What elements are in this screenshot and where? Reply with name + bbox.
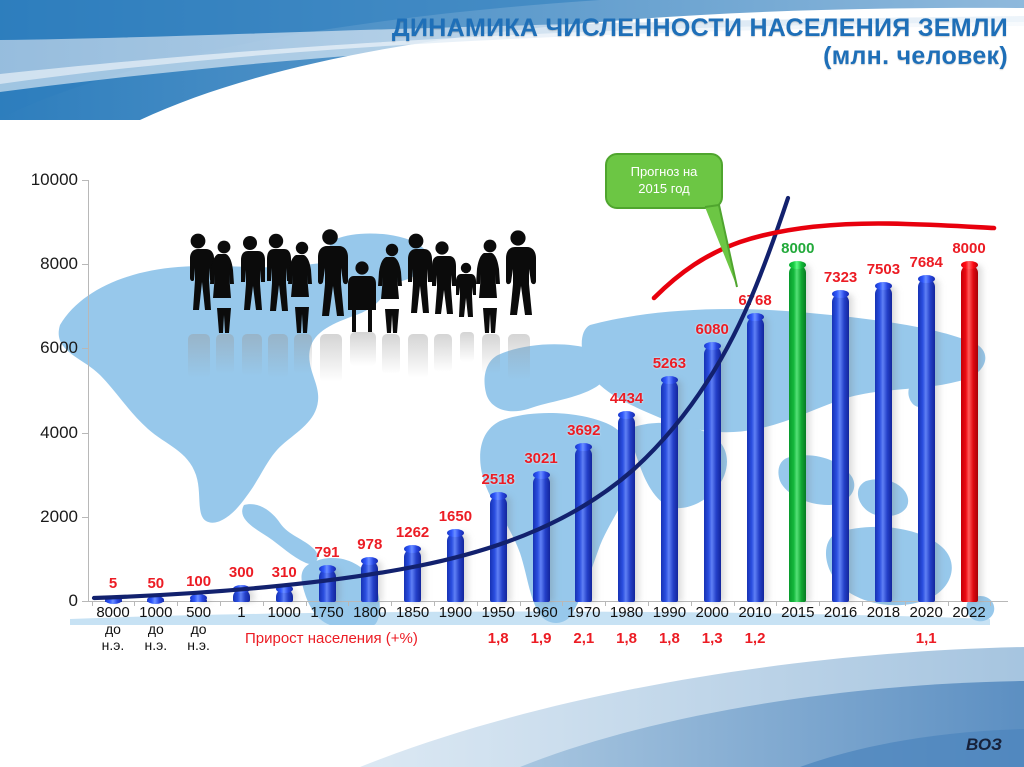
x-axis-label-line: 8000 <box>96 604 129 621</box>
x-axis-label: 1990 <box>653 604 686 621</box>
x-axis-label-line: 2000 <box>696 604 729 621</box>
callout-pointer <box>685 201 815 291</box>
x-axis-label-line: 1900 <box>439 604 472 621</box>
x-axis-label: 2022 <box>952 604 985 621</box>
exponential-trend-curve <box>94 198 788 598</box>
x-axis-label-line: 2015 <box>781 604 814 621</box>
y-tick-label: 6000 <box>40 338 78 358</box>
y-tick-label: 10000 <box>31 170 78 190</box>
x-axis-label: 1800 <box>353 604 386 621</box>
x-axis-label: 1 <box>237 604 245 621</box>
x-axis-label: 2016 <box>824 604 857 621</box>
forecast-callout: Прогноз на 2015 год <box>605 153 723 209</box>
x-axis-label: 2000 <box>696 604 729 621</box>
x-axis-label: 2010 <box>738 604 771 621</box>
y-tick-label: 2000 <box>40 507 78 527</box>
trend-curves <box>88 180 1008 602</box>
x-axis-label: 2020 <box>910 604 943 621</box>
title-line-2: (млн. человек) <box>392 42 1008 70</box>
population-chart: 0200040006000800010000 55010030031079197… <box>0 150 1024 620</box>
x-axis-label: 1950 <box>482 604 515 621</box>
x-axis-label-line: 2010 <box>738 604 771 621</box>
x-axis-label-line: до <box>186 621 211 637</box>
x-axis-label: 2018 <box>867 604 900 621</box>
x-axis-label: 2015 <box>781 604 814 621</box>
x-axis-label-line: 1 <box>237 604 245 621</box>
x-axis-label-line: 1970 <box>567 604 600 621</box>
callout-line-1: Прогноз на <box>631 164 698 181</box>
x-axis-label-line: 1750 <box>310 604 343 621</box>
callout-line-2: 2015 год <box>638 181 690 198</box>
plot-area: 0200040006000800010000 55010030031079197… <box>88 180 1008 602</box>
x-axis-label: 1000 <box>268 604 301 621</box>
x-axis-label-line: 1000 <box>139 604 172 621</box>
x-axis-label: 1750 <box>310 604 343 621</box>
x-axis-label-line: 2018 <box>867 604 900 621</box>
x-axis-label: 1980 <box>610 604 643 621</box>
x-axis-label-line: 1950 <box>482 604 515 621</box>
x-axis-label-line: 1000 <box>268 604 301 621</box>
x-axis-label-line: 1980 <box>610 604 643 621</box>
y-tick-label: 4000 <box>40 423 78 443</box>
slide-canvas: ДИНАМИКА ЧИСЛЕННОСТИ НАСЕЛЕНИЯ ЗЕМЛИ (мл… <box>0 0 1024 767</box>
x-axis-label-line: до <box>139 621 172 637</box>
y-tick-label: 8000 <box>40 254 78 274</box>
x-axis-label-line: 2016 <box>824 604 857 621</box>
x-axis-label-line: 2020 <box>910 604 943 621</box>
bottom-decoration <box>0 637 1024 767</box>
title-line-1: ДИНАМИКА ЧИСЛЕННОСТИ НАСЕЛЕНИЯ ЗЕМЛИ <box>392 14 1008 42</box>
page-title: ДИНАМИКА ЧИСЛЕННОСТИ НАСЕЛЕНИЯ ЗЕМЛИ (мл… <box>392 14 1008 71</box>
x-axis-label-line: 500 <box>186 604 211 621</box>
x-axis-label-line: 1960 <box>524 604 557 621</box>
x-axis-label-line: 1850 <box>396 604 429 621</box>
x-axis-label: 1850 <box>396 604 429 621</box>
x-axis-label-line: до <box>96 621 129 637</box>
x-axis-label-line: 1990 <box>653 604 686 621</box>
x-axis-label: 1900 <box>439 604 472 621</box>
source-label: ВОЗ <box>966 735 1002 755</box>
x-axis-label: 1960 <box>524 604 557 621</box>
x-axis-label: 1970 <box>567 604 600 621</box>
x-axis-label-line: 1800 <box>353 604 386 621</box>
x-axis-label-line: 2022 <box>952 604 985 621</box>
